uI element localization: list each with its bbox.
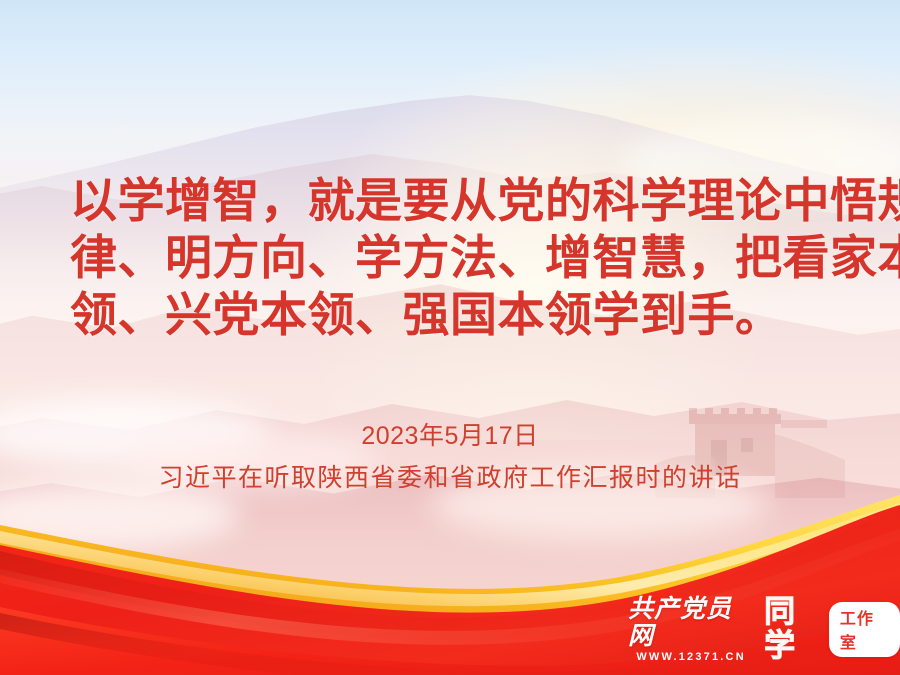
headline-line-2: 律、明方向、学方法、增智慧，把看家本 [70,229,845,286]
site-url-label: WWW.12371.CN [636,651,746,663]
site-logo[interactable]: 共产党员网 WWW.12371.CN [628,596,754,663]
attribution-source: 习近平在听取陕西省委和省政府工作汇报时的讲话 [0,458,900,494]
headline-line-3: 领、兴党本领、强国本领学到手。 [70,286,845,343]
studio-name-label: 同学 [764,595,826,663]
studio-logo[interactable]: 同学 工作室 [764,595,900,663]
site-name-label: 共产党员网 [628,596,754,650]
headline-quote: 以学增智，就是要从党的科学理论中悟规 律、明方向、学方法、增智慧，把看家本 领、… [70,172,845,343]
logo-block[interactable]: 共产党员网 WWW.12371.CN 同学 工作室 [628,595,900,663]
poster-canvas: 以学增智，就是要从党的科学理论中悟规 律、明方向、学方法、增智慧，把看家本 领、… [0,0,900,675]
studio-badge-label: 工作室 [829,602,900,657]
attribution-date: 2023年5月17日 [0,416,900,452]
headline-line-1: 以学增智，就是要从党的科学理论中悟规 [70,172,845,229]
